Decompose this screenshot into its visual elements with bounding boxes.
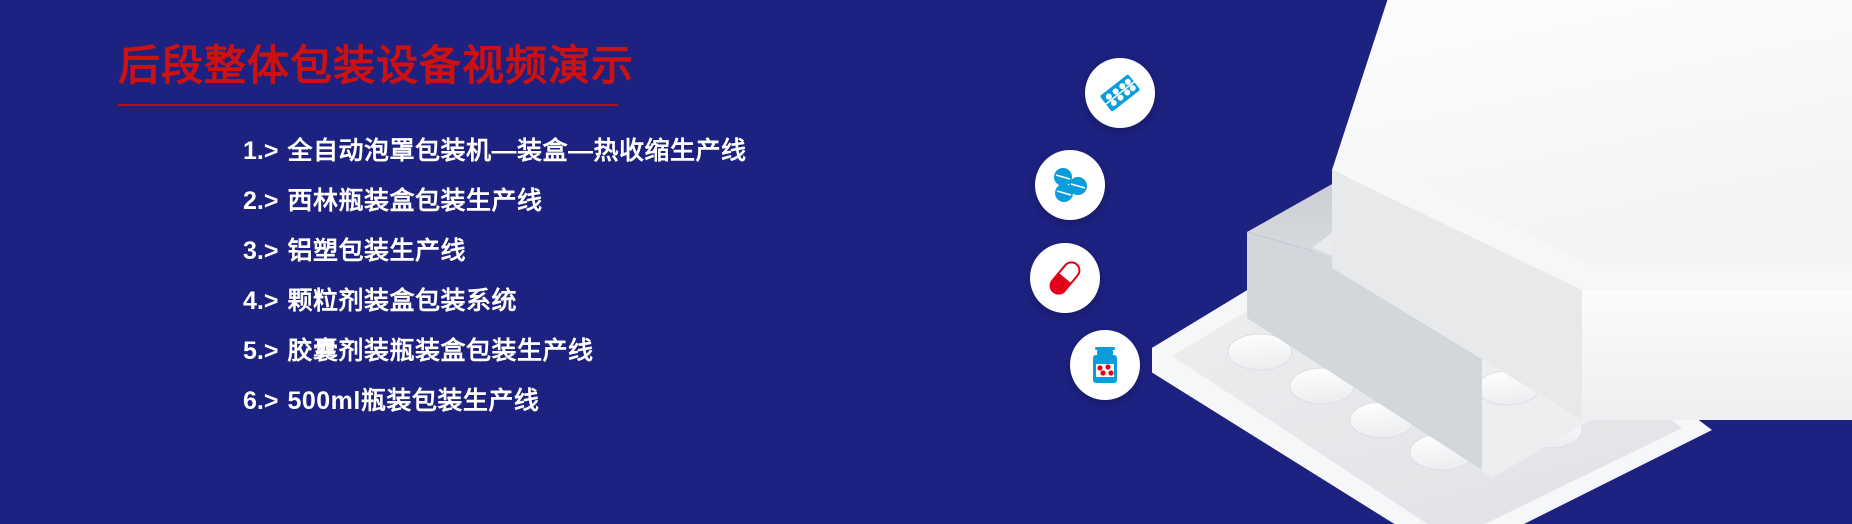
pharma-icon-column [1030, 58, 1180, 458]
list-item[interactable]: 2.> 西林瓶装盒包装生产线 [243, 181, 943, 231]
video-demo-banner: 后段整体包装设备视频演示 1.> 全自动泡罩包装机—装盒—热收缩生产线 2.> … [0, 0, 1852, 524]
tablets-glyph [1047, 162, 1093, 208]
title-block: 后段整体包装设备视频演示 [118, 40, 738, 106]
list-item-label: 胶囊剂装瓶装盒包装生产线 [287, 331, 593, 367]
list-item[interactable]: 3.> 铝塑包装生产线 [243, 231, 943, 281]
video-demo-list: 1.> 全自动泡罩包装机—装盒—热收缩生产线 2.> 西林瓶装盒包装生产线 3.… [243, 131, 943, 431]
tablets-icon [1035, 150, 1105, 220]
blister-pack-glyph [1097, 70, 1143, 116]
list-item[interactable]: 6.> 500ml瓶装包装生产线 [243, 381, 943, 431]
list-item-label: 西林瓶装盒包装生产线 [287, 181, 542, 217]
page-title: 后段整体包装设备视频演示 [118, 40, 738, 92]
blister-pack-icon [1085, 58, 1155, 128]
carton-svg [1152, 0, 1852, 524]
capsule-glyph [1042, 255, 1088, 301]
list-item[interactable]: 5.> 胶囊剂装瓶装盒包装生产线 [243, 331, 943, 381]
capsule-icon [1030, 243, 1100, 313]
pill-bottle-icon [1070, 330, 1140, 400]
list-item-marker: 3.> [243, 237, 278, 266]
list-item-marker: 2.> [243, 187, 278, 216]
list-item-marker: 1.> [243, 137, 278, 166]
list-item[interactable]: 4.> 颗粒剂装盒包装系统 [243, 281, 943, 331]
list-item-label: 铝塑包装生产线 [287, 231, 466, 267]
title-underline-rule [118, 104, 618, 106]
list-item-marker: 6.> [243, 387, 278, 416]
list-item-label: 500ml瓶装包装生产线 [287, 381, 539, 417]
list-item-marker: 5.> [243, 337, 278, 366]
list-item-label: 全自动泡罩包装机—装盒—热收缩生产线 [287, 131, 746, 167]
list-item-marker: 4.> [243, 287, 278, 316]
list-item-label: 颗粒剂装盒包装系统 [287, 281, 517, 317]
open-carton-with-blister-packs-illustration [1152, 0, 1852, 524]
list-item[interactable]: 1.> 全自动泡罩包装机—装盒—热收缩生产线 [243, 131, 943, 181]
pill-bottle-glyph [1082, 342, 1128, 388]
